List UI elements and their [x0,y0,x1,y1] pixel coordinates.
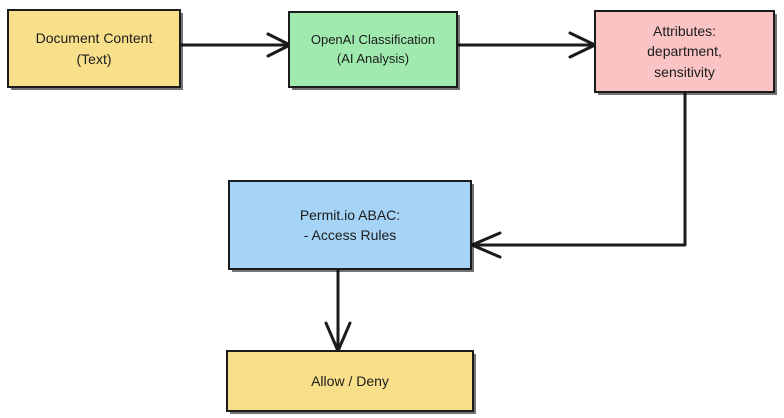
node-attributes-line-1: Attributes: [653,21,716,41]
node-document-content-line-2: (Text) [77,49,112,69]
node-document-content-line-1: Document Content [36,28,153,48]
node-permit-abac-line-1: Permit.io ABAC: [300,205,400,225]
edge-doc-to-openai [182,34,290,56]
edge-attributes-to-abac [472,94,685,257]
node-permit-abac[interactable]: Permit.io ABAC: - Access Rules [228,180,472,270]
node-attributes[interactable]: Attributes: department, sensitivity [594,10,775,93]
node-document-content[interactable]: Document Content (Text) [7,9,181,88]
node-attributes-line-2: department, [647,41,722,61]
edge-openai-to-attributes [459,33,595,57]
node-attributes-line-3: sensitivity [654,62,715,82]
node-allow-deny[interactable]: Allow / Deny [226,350,474,412]
node-openai-classification-line-2: (AI Analysis) [337,50,409,69]
flowchart-canvas: Document Content (Text) OpenAI Classific… [0,0,784,418]
node-openai-classification-line-1: OpenAI Classification [311,31,435,50]
node-allow-deny-line-1: Allow / Deny [311,371,389,391]
node-permit-abac-line-2: - Access Rules [304,225,397,245]
node-openai-classification[interactable]: OpenAI Classification (AI Analysis) [288,11,458,88]
edge-abac-to-allow-deny [326,271,350,351]
